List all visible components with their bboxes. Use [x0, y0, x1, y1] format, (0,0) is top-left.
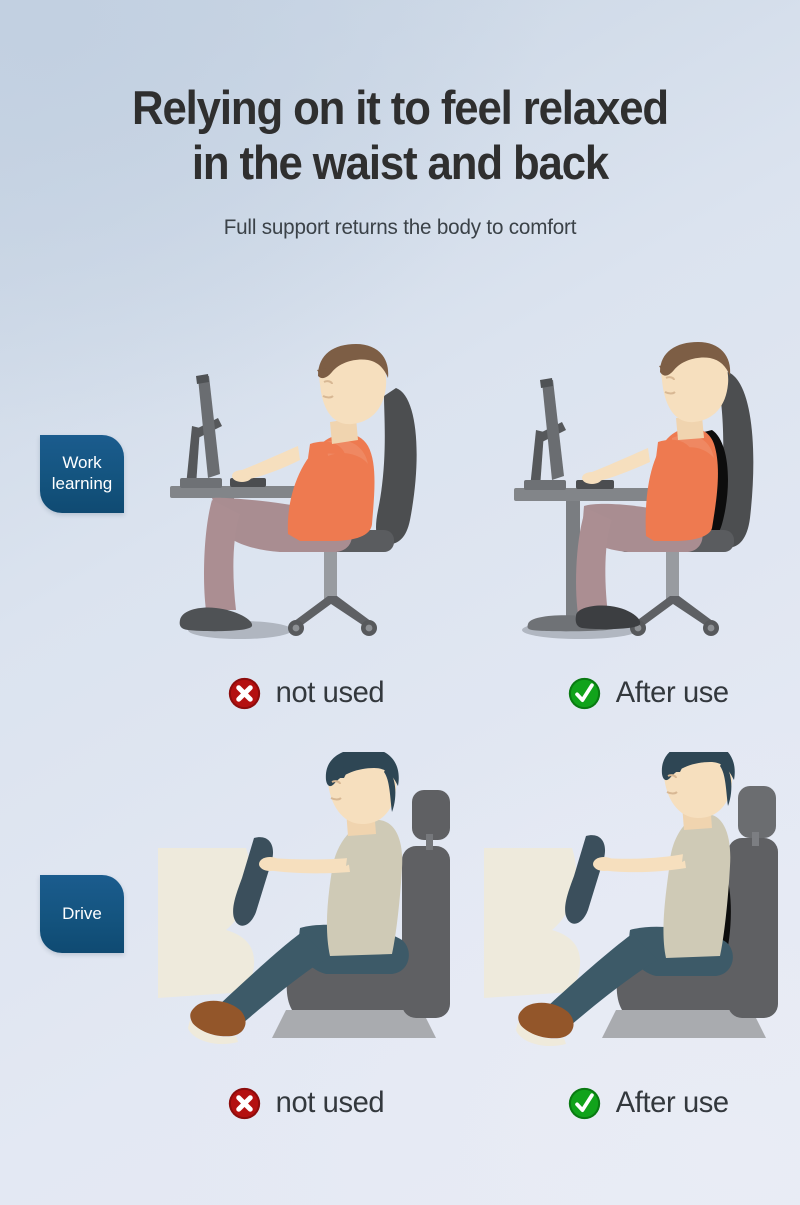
chair-cylinder — [666, 552, 679, 600]
caption-office-after: After use — [568, 676, 730, 710]
office-before-illustration — [160, 338, 470, 658]
person-shoe — [180, 608, 252, 632]
scene-drive-before — [150, 752, 470, 1072]
scene-drive-after — [480, 752, 800, 1072]
car-dashboard — [484, 848, 580, 998]
monitor-base — [180, 478, 222, 488]
badge-work-text: Work learning — [52, 453, 113, 494]
car-headrest — [738, 786, 776, 838]
driver-torso — [663, 814, 730, 958]
driver-hand — [259, 857, 281, 871]
caption-drive-after-label: After use — [616, 1086, 729, 1120]
caption-office-before: not used — [228, 676, 386, 710]
drive-before-illustration — [150, 752, 470, 1072]
caster-hub-right — [366, 625, 373, 632]
cross-icon — [228, 677, 261, 710]
person-hand — [232, 470, 252, 482]
check-icon — [568, 1087, 601, 1120]
car-seat-back — [728, 838, 778, 1018]
chair-base — [635, 596, 714, 626]
scene-office-before — [160, 338, 470, 658]
badge-work-line-2: learning — [52, 474, 113, 493]
car-headrest — [412, 790, 450, 840]
page-title: Relying on it to feel relaxed in the wai… — [28, 80, 772, 191]
scene-office-after — [500, 338, 800, 658]
headline-line-2: in the waist and back — [28, 135, 772, 190]
headrest-post — [426, 834, 433, 850]
monitor-base — [524, 480, 566, 490]
chair-backrest — [376, 388, 417, 544]
header: Relying on it to feel relaxed in the wai… — [0, 0, 800, 240]
car-seat-back — [402, 846, 450, 1018]
office-after-illustration — [500, 338, 800, 658]
section-badge-drive: Drive — [40, 875, 124, 953]
chair-cylinder — [324, 552, 337, 600]
page-subtitle: Full support returns the body to comfort — [16, 215, 784, 240]
chair-base — [293, 596, 372, 626]
check-icon — [568, 677, 601, 710]
person-shin — [204, 500, 240, 610]
headline-line-1: Relying on it to feel relaxed — [132, 81, 668, 134]
person-shin — [576, 508, 612, 614]
person-shoe — [576, 605, 641, 629]
caption-drive-after: After use — [568, 1086, 730, 1120]
driver-hand — [593, 857, 615, 871]
driver-torso — [327, 820, 402, 956]
badge-work-line-1: Work — [62, 453, 101, 472]
caption-office-after-label: After use — [616, 676, 729, 710]
cross-icon — [228, 1087, 261, 1120]
section-badge-work-learning: Work learning — [40, 435, 124, 513]
caption-office-before-label: not used — [276, 676, 385, 710]
caption-drive-before-label: not used — [276, 1086, 385, 1120]
drive-after-illustration — [480, 752, 800, 1072]
badge-drive-label: Drive — [62, 904, 102, 925]
person-hand — [582, 472, 602, 484]
caption-drive-before: not used — [228, 1086, 386, 1120]
caster-hub-right — [708, 625, 715, 632]
caster-hub-left — [293, 625, 300, 632]
infographic-page: Relying on it to feel relaxed in the wai… — [0, 0, 800, 1205]
headrest-post — [752, 832, 759, 846]
